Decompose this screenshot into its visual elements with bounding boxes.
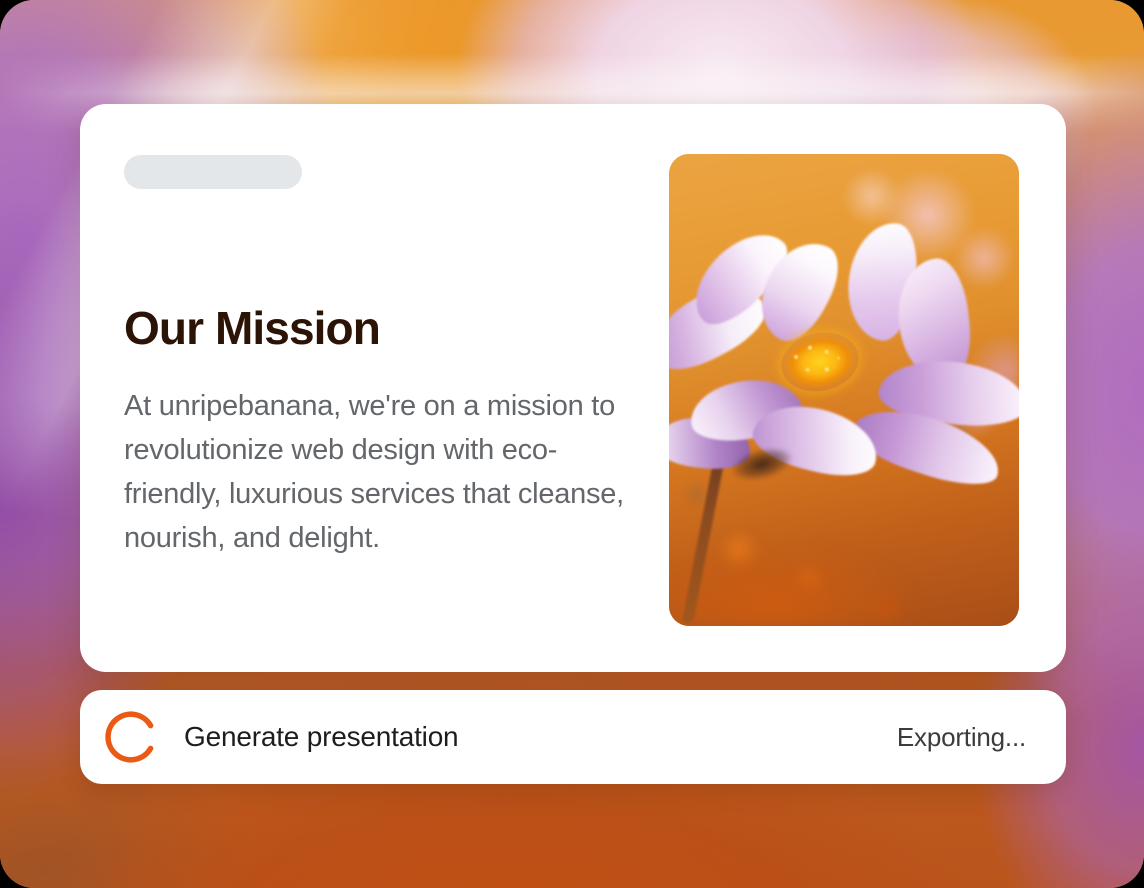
slide-card[interactable]: Our Mission At unripebanana, we're on a …: [80, 104, 1066, 672]
status-label: Generate presentation: [184, 721, 458, 753]
slide-image[interactable]: [669, 154, 1019, 626]
loading-spinner-icon: [102, 707, 162, 767]
slide-text-column: Our Mission At unripebanana, we're on a …: [124, 304, 644, 560]
status-state-text: Exporting...: [897, 722, 1026, 753]
slide-body-text: At unripebanana, we're on a mission to r…: [124, 384, 644, 560]
title-placeholder-pill[interactable]: [124, 155, 302, 189]
slide-heading: Our Mission: [124, 304, 644, 354]
photo-cosmos-flower: [669, 154, 1019, 626]
generation-status-bar[interactable]: Generate presentation Exporting...: [80, 690, 1066, 784]
app-viewport: Our Mission At unripebanana, we're on a …: [0, 0, 1144, 888]
